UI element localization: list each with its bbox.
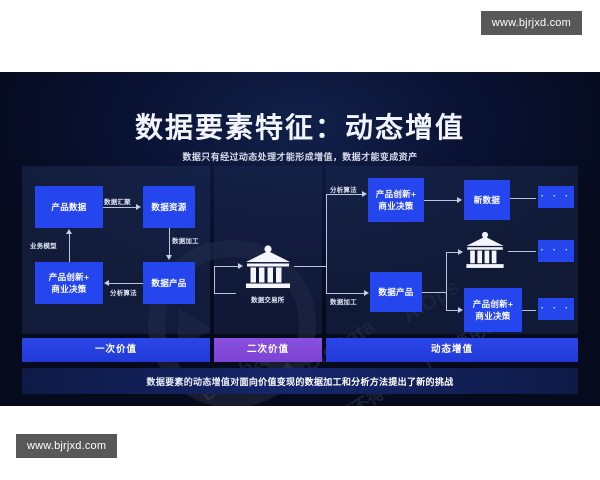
slide-title: 数据要素特征：动态增值 (0, 106, 600, 146)
edge-to-exchange-hline-top (214, 266, 240, 267)
edge-processing-2-arrow-icon (364, 290, 369, 296)
node-more-1[interactable]: · · · (538, 186, 574, 208)
node-innovation-decision-top-label: 产品创新+ 商业决策 (376, 188, 416, 213)
node-more-1-label: · · · (541, 190, 572, 205)
edge-innov-to-more3-line (522, 310, 536, 311)
edge-analytics-2-arrow-icon (362, 191, 367, 197)
edge-to-exchange-arrow-icon (238, 263, 243, 269)
node-data-resource-label: 数据资源 (151, 201, 186, 213)
edge-newdata-to-more1-line (510, 198, 536, 199)
slide-subtitle: 数据只有经过动态处理才能形成增值，数据才能变成资产 (0, 150, 600, 163)
slide-canvas: Database BigData AIOps 仅供学习不得转载，严禁商用盗版 数… (0, 72, 600, 406)
edge-dp2-to-innov-arrow-icon (458, 307, 463, 313)
watermark-top: www.bjrjxd.com (481, 11, 582, 35)
value-bar-dynamic[interactable]: 动态增值 (326, 338, 578, 362)
edge-business-model-arrow-icon (66, 229, 72, 234)
edge-bank-to-more2-line (508, 251, 536, 252)
edge-business-model-line (69, 234, 70, 262)
footer-strip: 数据要素的动态增值对面向价值变现的数据加工和分析方法提出了新的挑战 (22, 368, 578, 394)
edge-analytics-arrow-icon (104, 280, 109, 286)
edge-processing-2-label: 数据加工 (330, 296, 357, 306)
edge-business-model-label: 业务模型 (30, 240, 57, 250)
edge-exchange-out-line (294, 266, 326, 267)
edge-dp2-to-bank-arrow-icon (458, 249, 463, 255)
node-more-3[interactable]: · · · (538, 298, 574, 320)
node-data-product-2[interactable]: 数据产品 (370, 272, 422, 312)
node-data-product-2-label: 数据产品 (378, 286, 413, 298)
node-data-resource[interactable]: 数据资源 (143, 186, 195, 228)
edge-innov-to-newdata-arrow-icon (457, 197, 462, 203)
edge-innov-to-newdata-line (424, 200, 458, 201)
edge-to-exchange-hline-bottom (214, 293, 236, 294)
value-bar-primary-label: 一次价值 (95, 344, 137, 355)
edge-processing-line (169, 228, 170, 256)
watermark-bottom: www.bjrjxd.com (16, 434, 117, 458)
footer-lead-text: 数据要素的动态增值对 (147, 375, 240, 388)
edge-aggregation-label: 数据汇聚 (104, 196, 131, 206)
edge-analytics-2-line (326, 194, 364, 195)
node-more-2-label: · · · (541, 244, 572, 259)
node-innovation-decision[interactable]: 产品创新+ 商业决策 (35, 262, 103, 304)
node-data-product[interactable]: 数据产品 (143, 262, 195, 304)
edge-processing-2-line (326, 293, 366, 294)
node-more-3-label: · · · (541, 302, 572, 317)
node-product-data-label: 产品数据 (51, 201, 86, 213)
bank-icon-exchange-label: 数据交易所 (251, 294, 285, 304)
bank-icon-exchange (242, 244, 294, 292)
node-new-data[interactable]: 新数据 (464, 180, 510, 220)
bank-icon-dynamic (463, 230, 507, 272)
edge-analytics-line (109, 283, 143, 284)
edge-processing-arrow-icon (166, 255, 172, 260)
node-innovation-decision-bottom-label: 产品创新+ 商业决策 (473, 298, 513, 323)
node-new-data-label: 新数据 (474, 194, 500, 206)
value-bar-primary[interactable]: 一次价值 (22, 338, 210, 362)
edge-dp2-branch-vline2 (446, 292, 447, 310)
node-data-product-label: 数据产品 (151, 277, 186, 289)
edge-to-exchange-vline (214, 266, 215, 294)
value-bar-secondary-label: 二次价值 (247, 344, 289, 355)
node-more-2[interactable]: · · · (538, 240, 574, 262)
node-product-data[interactable]: 产品数据 (35, 186, 103, 228)
edge-processing-label: 数据加工 (172, 235, 199, 245)
edge-dynamic-in-vline (326, 194, 327, 294)
edge-aggregation-arrow-icon (136, 204, 141, 210)
edge-aggregation-line (103, 207, 137, 208)
edge-dp2-branch-vline (446, 252, 447, 292)
node-innovation-decision-label: 产品创新+ 商业决策 (49, 271, 89, 296)
edge-analytics-2-label: 分析算法 (330, 184, 357, 194)
footer-emphasis-text: 面向价值变现的数据加工和分析方法提出了新的挑战 (240, 375, 454, 388)
value-bar-secondary[interactable]: 二次价值 (214, 338, 322, 362)
edge-analytics-label: 分析算法 (110, 287, 137, 297)
node-innovation-decision-bottom[interactable]: 产品创新+ 商业决策 (464, 288, 522, 332)
node-innovation-decision-top[interactable]: 产品创新+ 商业决策 (368, 178, 424, 222)
edge-dp2-out-line (422, 292, 446, 293)
value-bar-dynamic-label: 动态增值 (431, 344, 473, 355)
